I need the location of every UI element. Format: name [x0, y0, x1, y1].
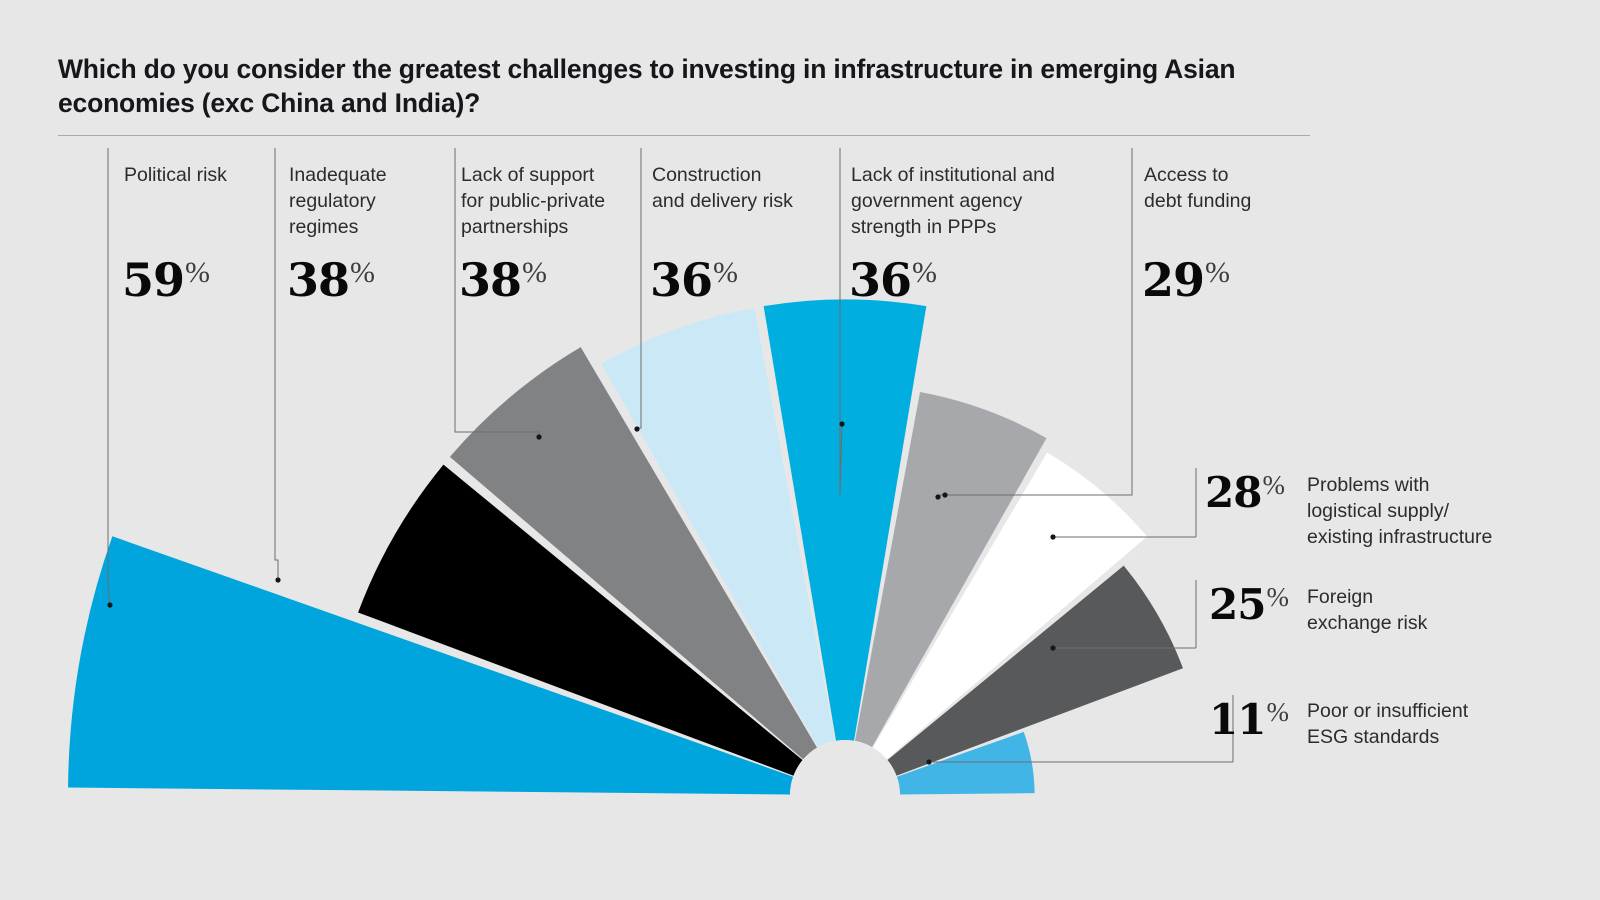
right-label-0-text: Problems withlogistical supply/existing … — [1307, 474, 1492, 548]
top-label-5: Access todebt funding — [1144, 162, 1309, 214]
top-pct-0-value: 59 — [122, 253, 184, 307]
right-label-2: Poor or insufficientESG standards — [1307, 698, 1597, 750]
top-label-3: Constructionand delivery risk — [652, 162, 852, 214]
percent-symbol: % — [1262, 470, 1285, 500]
top-pct-0: 59% — [122, 253, 210, 307]
leader-dot-top-0 — [107, 602, 112, 607]
percent-symbol: % — [1266, 697, 1289, 727]
top-label-3-text: Constructionand delivery risk — [652, 164, 793, 212]
top-label-1-text: Inadequateregulatoryregimes — [289, 164, 387, 238]
top-label-4-text: Lack of institutional andgovernment agen… — [851, 164, 1055, 238]
leader-dot-right-3 — [942, 492, 947, 497]
percent-symbol: % — [522, 256, 547, 289]
right-label-0: Problems withlogistical supply/existing … — [1307, 472, 1597, 550]
right-pct-0-value: 28 — [1205, 468, 1261, 517]
top-pct-5-value: 29 — [1142, 253, 1204, 307]
top-label-4: Lack of institutional andgovernment agen… — [851, 162, 1101, 240]
leader-line-top-0 — [108, 148, 110, 605]
leader-dot-top-1 — [275, 577, 280, 582]
right-pct-1: 25% — [1209, 580, 1289, 629]
percent-symbol: % — [912, 256, 937, 289]
top-pct-3: 36% — [650, 253, 738, 307]
top-label-1: Inadequateregulatoryregimes — [289, 162, 449, 240]
top-pct-4-value: 36 — [849, 253, 911, 307]
right-pct-1-value: 25 — [1209, 580, 1265, 629]
right-label-1: Foreignexchange risk — [1307, 584, 1597, 636]
right-pct-2-value: 11 — [1209, 695, 1265, 744]
right-pct-0: 28% — [1205, 468, 1285, 517]
leader-dot-top-5 — [935, 494, 940, 499]
infographic-root: Which do you consider the greatest chall… — [0, 0, 1600, 900]
top-label-0: Political risk — [124, 162, 274, 188]
right-label-1-text: Foreignexchange risk — [1307, 586, 1427, 634]
top-pct-2: 38% — [459, 253, 547, 307]
top-label-5-text: Access todebt funding — [1144, 164, 1251, 212]
leader-line-top-1 — [275, 148, 278, 580]
top-pct-1: 38% — [287, 253, 375, 307]
rose-chart — [0, 0, 1600, 900]
top-label-2-text: Lack of supportfor public-privatepartner… — [461, 164, 605, 238]
top-pct-2-value: 38 — [459, 253, 521, 307]
leader-dot-top-4 — [839, 421, 844, 426]
leader-dot-right-2 — [926, 759, 931, 764]
leader-dot-right-1 — [1050, 645, 1055, 650]
top-pct-1-value: 38 — [287, 253, 349, 307]
right-pct-2: 11% — [1209, 695, 1289, 744]
top-label-2: Lack of supportfor public-privatepartner… — [461, 162, 641, 240]
percent-symbol: % — [350, 256, 375, 289]
percent-symbol: % — [1266, 582, 1289, 612]
top-pct-3-value: 36 — [650, 253, 712, 307]
wedge-group — [68, 299, 1183, 795]
right-label-2-text: Poor or insufficientESG standards — [1307, 700, 1468, 748]
percent-symbol: % — [1205, 256, 1230, 289]
top-pct-5: 29% — [1142, 253, 1230, 307]
top-label-0-text: Political risk — [124, 164, 227, 186]
percent-symbol: % — [185, 256, 210, 289]
leader-dot-right-0 — [1050, 534, 1055, 539]
leader-dot-top-2 — [536, 434, 541, 439]
percent-symbol: % — [713, 256, 738, 289]
leader-dot-top-3 — [634, 426, 639, 431]
top-pct-4: 36% — [849, 253, 937, 307]
